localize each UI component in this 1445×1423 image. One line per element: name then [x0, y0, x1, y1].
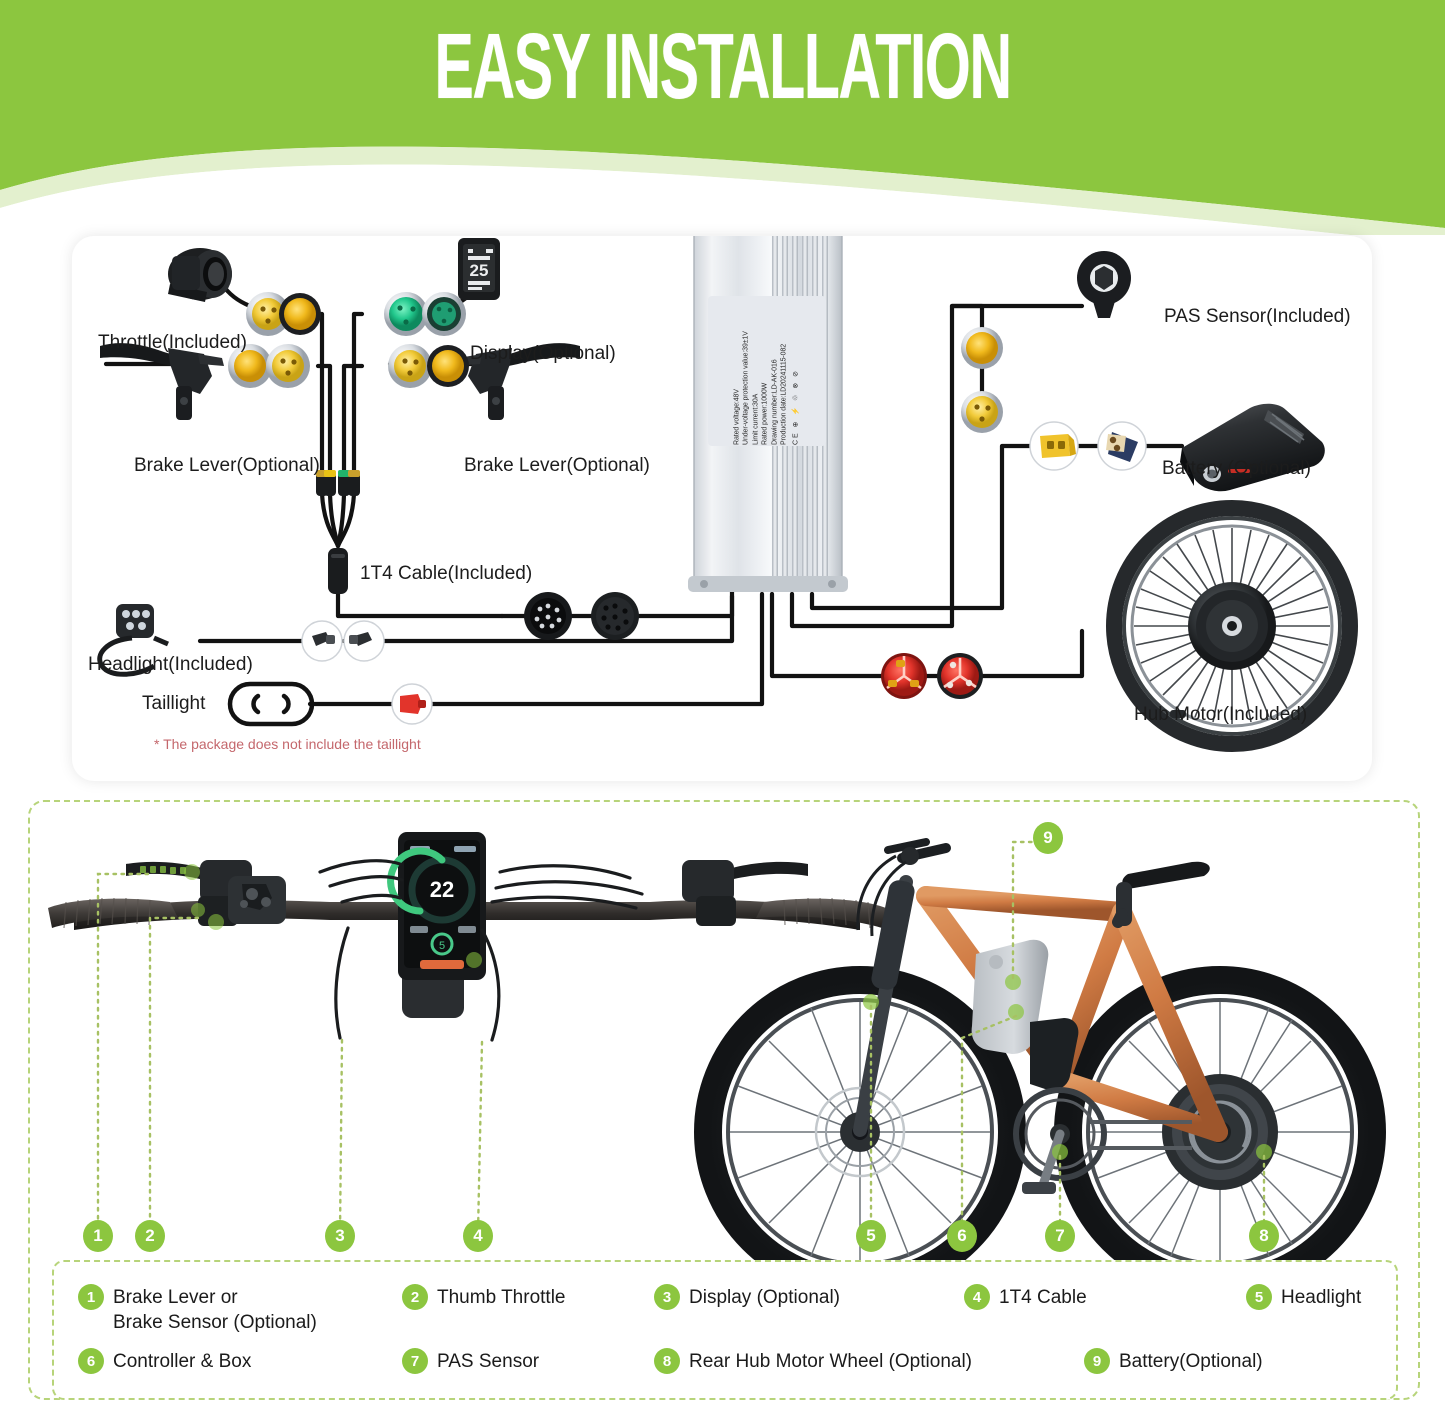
- legend-badge-3: 3: [654, 1284, 680, 1310]
- svg-text:22: 22: [430, 877, 454, 902]
- label-taillight: Taillight: [142, 693, 205, 715]
- spec-rated-voltage: Rated voltage:48V: [733, 297, 742, 445]
- callout-badge-7: 7: [1045, 1220, 1075, 1252]
- label-1t4-cable: 1T4 Cable(Included): [360, 563, 532, 585]
- legend-badge-1: 1: [78, 1284, 104, 1310]
- svg-text:5: 5: [439, 940, 445, 952]
- legend-item-9: 9 Battery(Optional): [1084, 1348, 1263, 1374]
- legend-label-2: Thumb Throttle: [437, 1284, 565, 1310]
- label-brake-left: Brake Lever(Optional): [134, 455, 320, 477]
- legend-label-1: Brake Lever or Brake Sensor (Optional): [113, 1284, 317, 1335]
- legend-badge-2: 2: [402, 1284, 428, 1310]
- taillight-illustration: [230, 684, 312, 724]
- legend-label-4: 1T4 Cable: [999, 1284, 1087, 1310]
- display-illustration: 25: [458, 238, 500, 300]
- legend-badge-4: 4: [964, 1284, 990, 1310]
- legend-item-3: 3 Display (Optional): [654, 1284, 840, 1310]
- legend-label-5: Headlight: [1281, 1284, 1361, 1310]
- legend-item-5: 5 Headlight: [1246, 1284, 1361, 1310]
- label-headlight: Headlight(Included): [88, 654, 253, 676]
- label-hub-motor: Hub Motor(Included): [1134, 704, 1307, 726]
- legend-label-9: Battery(Optional): [1119, 1348, 1263, 1374]
- legend-label-8: Rear Hub Motor Wheel (Optional): [689, 1348, 972, 1374]
- legend-item-2: 2 Thumb Throttle: [402, 1284, 565, 1310]
- header-banner: EASY INSTALLATION: [0, 0, 1445, 235]
- spec-limit-current: Limit current:30A: [751, 297, 760, 445]
- callout-badge-2: 2: [135, 1220, 165, 1252]
- wiring-diagram-card: 25: [72, 236, 1372, 781]
- legend-item-6: 6 Controller & Box: [78, 1348, 251, 1374]
- infographic-page: EASY INSTALLATION: [0, 0, 1445, 1423]
- connector-pair-throttle: [246, 292, 321, 336]
- legend-badge-6: 6: [78, 1348, 104, 1374]
- callout-badge-9: 9: [1033, 822, 1063, 854]
- label-pas-sensor: PAS Sensor(Included): [1164, 306, 1351, 328]
- taillight-disclaimer: * The package does not include the taill…: [154, 736, 421, 752]
- legend-badge-9: 9: [1084, 1348, 1110, 1374]
- legend-label-3: Display (Optional): [689, 1284, 840, 1310]
- legend-item-7: 7 PAS Sensor: [402, 1348, 539, 1374]
- throttle-illustration: [168, 248, 232, 302]
- controller-spec-text: Rated voltage:48V Under-voltage protecti…: [733, 297, 802, 445]
- legend-item-4: 4 1T4 Cable: [964, 1284, 1087, 1310]
- spec-rated-power: Rated power:1000W: [761, 297, 770, 445]
- controller-spec-label: Rated voltage:48V Under-voltage protecti…: [708, 296, 826, 446]
- legend-badge-7: 7: [402, 1348, 428, 1374]
- connector-pair-display: [384, 292, 466, 336]
- callout-badge-6: 6: [947, 1220, 977, 1252]
- legend-label-7: PAS Sensor: [437, 1348, 539, 1374]
- label-throttle: Throttle(Included): [98, 332, 247, 354]
- spec-drawing-number: Drawing number:LD-AK-016: [770, 297, 779, 445]
- legend-item-1: 1 Brake Lever or Brake Sensor (Optional): [78, 1284, 317, 1335]
- legend-label-6: Controller & Box: [113, 1348, 251, 1374]
- connector-pair-brake-right: [388, 344, 469, 388]
- callout-badge-3: 3: [325, 1220, 355, 1252]
- callout-badge-5: 5: [856, 1220, 886, 1252]
- label-brake-right: Brake Lever(Optional): [464, 455, 650, 477]
- callout-badge-4: 4: [463, 1220, 493, 1252]
- spec-undervoltage: Under-voltage protection value:39±1V: [742, 297, 751, 445]
- legend-badge-8: 8: [654, 1348, 680, 1374]
- legend-badge-5: 5: [1246, 1284, 1272, 1310]
- callout-badge-8: 8: [1249, 1220, 1279, 1252]
- label-display: Display(Optional): [470, 343, 616, 365]
- svg-text:25: 25: [470, 261, 489, 280]
- brake-lever-left-illustration: [100, 343, 224, 420]
- callout-badge-1: 1: [83, 1220, 113, 1252]
- label-battery: Battery (Optional): [1162, 458, 1311, 480]
- cable-1t4-illustration: [316, 470, 360, 594]
- spec-production-date: Production date:LD20241115-082: [780, 297, 789, 445]
- legend-box: 1 Brake Lever or Brake Sensor (Optional)…: [52, 1260, 1398, 1400]
- pas-sensor-illustration: [1077, 251, 1131, 318]
- page-title: EASY INSTALLATION: [159, 14, 1286, 120]
- connector-taillight-red: [392, 684, 432, 724]
- legend-item-8: 8 Rear Hub Motor Wheel (Optional): [654, 1348, 972, 1374]
